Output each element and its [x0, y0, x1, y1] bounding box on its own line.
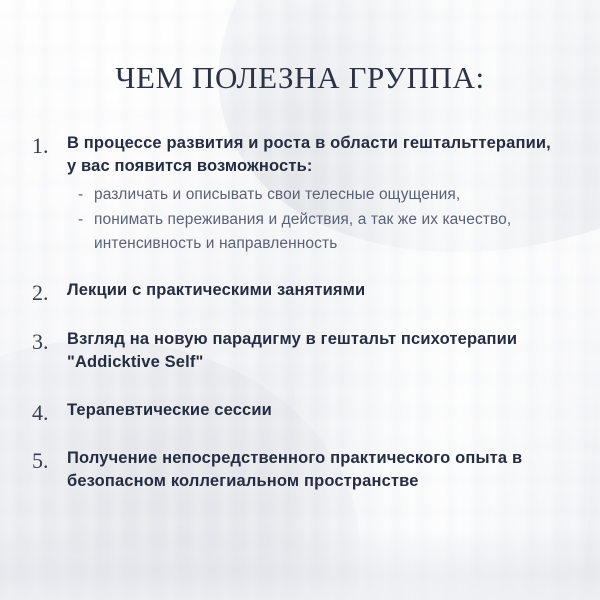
list-item-number: 2. [32, 280, 62, 305]
list-item-number: 1. [32, 133, 62, 158]
list-item-text: Взгляд на новую парадигму в гештальт пси… [67, 328, 560, 374]
list-item: 3. Взгляд на новую парадигму в гештальт … [0, 328, 600, 374]
list-item: 4. Терапевтические сессии [0, 399, 600, 422]
slide-content: ЧЕМ ПОЛЕЗНА ГРУППА: 1. В процессе развит… [0, 0, 600, 600]
slide-title: ЧЕМ ПОЛЕЗНА ГРУППА: [0, 58, 600, 98]
sub-bullet: - понимать переживания и действия, а так… [78, 208, 560, 256]
list-item-number: 3. [32, 329, 62, 354]
slide-canvas: ЧЕМ ПОЛЕЗНА ГРУППА: 1. В процессе развит… [0, 0, 600, 600]
dash-icon: - [78, 208, 83, 232]
list-item-text: Лекции с практическими занятиями [67, 279, 560, 302]
sub-bullet-text: различать и описывать свои телесные ощущ… [94, 183, 460, 207]
dash-icon: - [78, 183, 83, 207]
list-item-number: 5. [32, 448, 62, 473]
list-item: 5. Получение непосредственного практичес… [0, 447, 600, 493]
sub-bullet-text: понимать переживания и действия, а так ж… [94, 208, 560, 256]
list-item-text: В процессе развития и роста в области ге… [67, 132, 560, 178]
list-item: 2. Лекции с практическими занятиями [0, 279, 600, 302]
sub-bullet: - различать и описывать свои телесные ощ… [78, 183, 560, 207]
list-item-number: 4. [32, 400, 62, 425]
list-item-text: Получение непосредственного практическог… [67, 447, 560, 493]
sub-bullet-group: - различать и описывать свои телесные ощ… [67, 183, 560, 256]
list-item-text: Терапевтические сессии [67, 399, 560, 422]
list-item: 1. В процессе развития и роста в области… [0, 132, 600, 256]
benefits-list: 1. В процессе развития и роста в области… [0, 132, 600, 516]
